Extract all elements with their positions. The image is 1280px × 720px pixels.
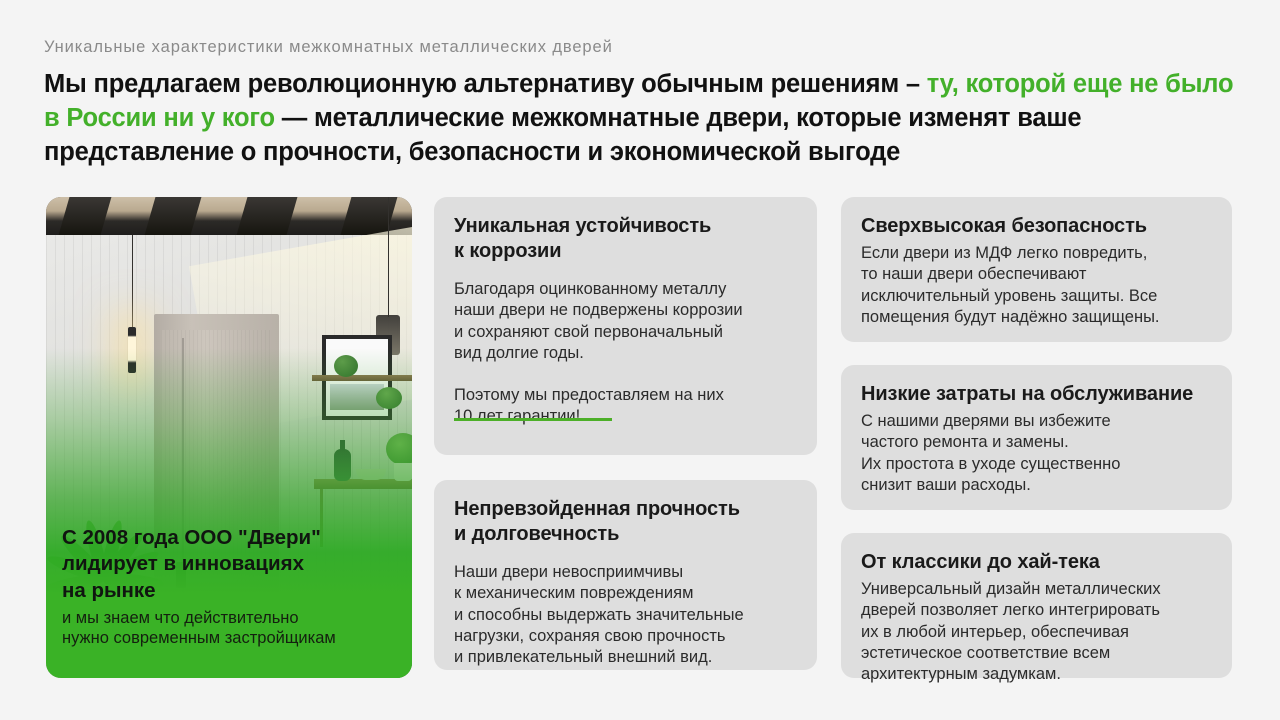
image-caption-title: С 2008 года ООО "Двери" лидирует в иннов… — [62, 525, 402, 604]
card-body: Благодаря оцинкованному металлу наши две… — [454, 279, 797, 364]
card-body: Если двери из МДФ легко повредить, то на… — [861, 243, 1212, 328]
image-caption: С 2008 года ООО "Двери" лидирует в иннов… — [62, 525, 402, 648]
eyebrow-label: Уникальные характеристики межкомнатных м… — [44, 38, 613, 57]
card-body: Наши двери невосприимчивы к механическим… — [454, 562, 797, 668]
feature-card-durability: Непревзойденная прочность и долговечност… — [434, 480, 817, 670]
pendant-cord — [388, 197, 389, 317]
card-title: Уникальная устойчивость к коррозии — [454, 214, 797, 264]
slide-root: Уникальные характеристики межкомнатных м… — [0, 0, 1280, 720]
green-underline-accent — [454, 418, 612, 421]
card-body: С нашими дверями вы избежите частого рем… — [861, 411, 1212, 496]
card-title: Сверхвысокая безопасность — [861, 214, 1212, 239]
page-title: Мы предлагаем революционную альтернативу… — [44, 68, 1236, 170]
card-body-secondary: Поэтому мы предоставляем на них 10 лет г… — [454, 385, 797, 428]
feature-card-corrosion: Уникальная устойчивость к коррозии Благо… — [434, 197, 817, 455]
pendant-cord — [132, 235, 133, 330]
card-title: Низкие затраты на обслуживание — [861, 382, 1212, 407]
middle-column: Уникальная устойчивость к коррозии Благо… — [434, 197, 817, 670]
feature-card-design: От классики до хай-тека Универсальный ди… — [841, 533, 1232, 678]
feature-card-maintenance: Низкие затраты на обслуживание С нашими … — [841, 365, 1232, 510]
card-title: Непревзойденная прочность и долговечност… — [454, 497, 797, 547]
hero-image-card: С 2008 года ООО "Двери" лидирует в иннов… — [46, 197, 412, 678]
headline-segment-1: Мы предлагаем революционную альтернативу… — [44, 70, 927, 98]
right-column: Сверхвысокая безопасность Если двери из … — [841, 197, 1232, 678]
image-caption-subtitle: и мы знаем что действительно нужно совре… — [62, 608, 402, 648]
card-body: Универсальный дизайн металлических двере… — [861, 579, 1212, 685]
feature-card-security: Сверхвысокая безопасность Если двери из … — [841, 197, 1232, 342]
card-title: От классики до хай-тека — [861, 550, 1212, 575]
